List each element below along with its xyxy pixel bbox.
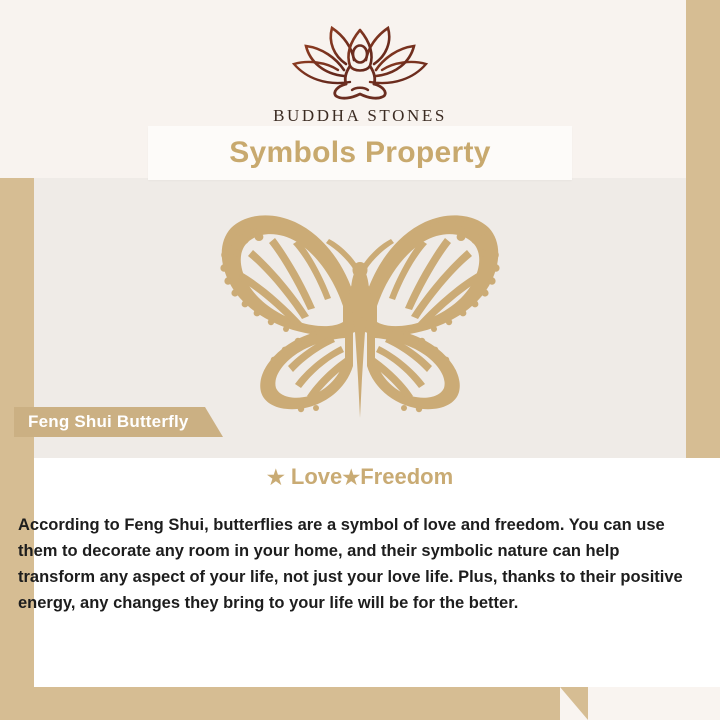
brand-name: BUDDHA STONES xyxy=(0,106,720,126)
star-icon-left: ★ xyxy=(267,467,285,489)
frame-bottom-bar xyxy=(0,687,560,720)
infographic-page: BUDDHA STONES Symbols Property xyxy=(0,0,720,720)
title-banner: Symbols Property xyxy=(148,126,572,180)
butterfly-illustration xyxy=(34,186,686,441)
star-icon-middle: ★ xyxy=(342,467,360,489)
subtitle-word-love: Love xyxy=(291,464,342,489)
subtitle-word-freedom: Freedom xyxy=(360,464,453,489)
lotus-meditation-icon xyxy=(0,24,720,102)
butterfly-icon xyxy=(195,206,525,421)
feng-shui-butterfly-tag: Feng Shui Butterfly xyxy=(14,407,205,437)
page-title: Symbols Property xyxy=(229,136,491,170)
brand-logo: BUDDHA STONES xyxy=(0,24,720,126)
description-paragraph: According to Feng Shui, butterflies are … xyxy=(18,512,696,616)
tag-label: Feng Shui Butterfly xyxy=(28,412,189,432)
subtitle: ★ Love★Freedom xyxy=(34,464,686,490)
